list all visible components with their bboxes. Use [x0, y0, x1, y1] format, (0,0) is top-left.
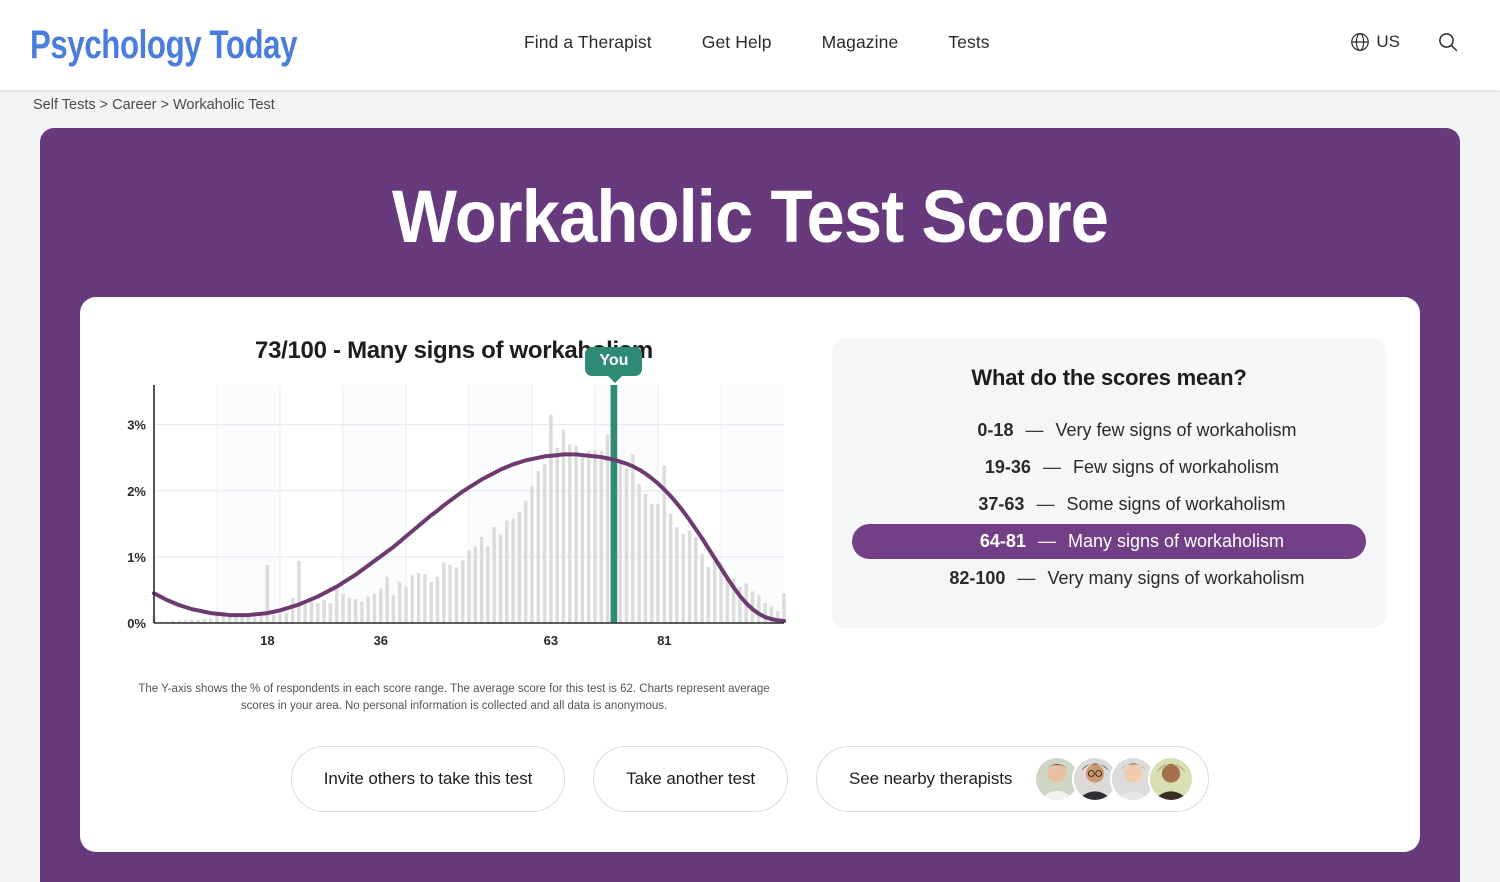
score-range-label: Few signs of workaholism — [1073, 457, 1279, 478]
score-range-value: 19-36 — [939, 457, 1031, 478]
breadcrumb-separator: > — [156, 97, 173, 113]
scores-column: What do the scores mean? 0-18 — Very few… — [832, 331, 1386, 628]
search-button[interactable] — [1436, 30, 1460, 54]
invite-others-label: Invite others to take this test — [324, 769, 533, 789]
chart-note: The Y-axis shows the % of respondents in… — [114, 681, 794, 714]
score-range-label: Many signs of workaholism — [1068, 531, 1284, 552]
score-range-value: 64-81 — [934, 531, 1026, 552]
chart-svg: 0%1%2%3%18366381 — [114, 373, 794, 663]
see-nearby-therapists-label: See nearby therapists — [849, 769, 1012, 789]
score-range-row-0-18: 0-18 — Very few signs of workaholism — [852, 413, 1366, 448]
svg-text:3%: 3% — [127, 418, 146, 433]
main-navigation: Find a Therapist Get Help Magazine Tests — [524, 32, 990, 53]
search-icon — [1436, 30, 1460, 54]
svg-text:0%: 0% — [127, 616, 146, 631]
result-card: 73/100 - Many signs of workaholism You 0… — [80, 297, 1420, 852]
locale-label: US — [1376, 32, 1400, 52]
score-range-row-19-36: 19-36 — Few signs of workaholism — [852, 450, 1366, 485]
score-range-label: Very few signs of workaholism — [1055, 420, 1296, 441]
see-nearby-therapists-button[interactable]: See nearby therapists — [816, 746, 1209, 812]
you-marker-badge: You — [585, 347, 642, 376]
nav-item-tests[interactable]: Tests — [948, 32, 989, 53]
score-range-dash: — — [1036, 494, 1054, 515]
avatar — [1148, 756, 1194, 802]
breadcrumb-separator: > — [96, 97, 113, 113]
nav-item-get-help[interactable]: Get Help — [702, 32, 772, 53]
locale-selector[interactable]: US — [1349, 31, 1400, 53]
take-another-test-button[interactable]: Take another test — [593, 746, 788, 812]
score-heading: 73/100 - Many signs of workaholism — [114, 337, 794, 365]
score-range-value: 0-18 — [921, 420, 1013, 441]
svg-text:18: 18 — [260, 633, 274, 648]
site-header: Psychology Today Find a Therapist Get He… — [0, 0, 1500, 90]
breadcrumb-item-career[interactable]: Career — [112, 97, 156, 113]
svg-text:36: 36 — [374, 633, 388, 648]
svg-text:1%: 1% — [127, 550, 146, 565]
globe-icon — [1349, 31, 1371, 53]
svg-text:63: 63 — [544, 633, 558, 648]
nav-item-find-a-therapist[interactable]: Find a Therapist — [524, 32, 652, 53]
breadcrumb-item-workaholic-test: Workaholic Test — [173, 97, 275, 113]
header-right-controls: US — [1349, 30, 1460, 54]
svg-text:2%: 2% — [127, 484, 146, 499]
therapist-avatars — [1034, 756, 1194, 802]
score-range-dash: — — [1043, 457, 1061, 478]
score-range-value: 37-63 — [932, 494, 1024, 515]
page-title: Workaholic Test Score — [90, 164, 1411, 259]
score-range-label: Very many signs of workaholism — [1047, 568, 1304, 589]
nav-item-magazine[interactable]: Magazine — [822, 32, 899, 53]
invite-others-button[interactable]: Invite others to take this test — [291, 746, 566, 812]
svg-text:81: 81 — [657, 633, 671, 648]
score-range-label: Some signs of workaholism — [1066, 494, 1285, 515]
score-range-row-64-81-active: 64-81 — Many signs of workaholism — [852, 524, 1366, 559]
score-range-dash: — — [1038, 531, 1056, 552]
score-range-dash: — — [1017, 568, 1035, 589]
score-range-dash: — — [1025, 420, 1043, 441]
breadcrumb-item-self-tests[interactable]: Self Tests — [33, 97, 96, 113]
chart-column: 73/100 - Many signs of workaholism You 0… — [114, 331, 794, 714]
take-another-test-label: Take another test — [626, 769, 755, 789]
breadcrumb: Self Tests > Career > Workaholic Test — [0, 90, 1500, 120]
score-range-value: 82-100 — [913, 568, 1005, 589]
psychology-today-logo[interactable]: Psychology Today — [30, 25, 297, 65]
scores-panel: What do the scores mean? 0-18 — Very few… — [832, 339, 1386, 628]
score-range-row-82-100: 82-100 — Very many signs of workaholism — [852, 561, 1366, 596]
action-buttons: Invite others to take this test Take ano… — [114, 746, 1386, 812]
score-range-row-37-63: 37-63 — Some signs of workaholism — [852, 487, 1366, 522]
scores-panel-title: What do the scores mean? — [852, 365, 1366, 391]
score-distribution-chart: You 0%1%2%3%18366381 — [114, 373, 794, 663]
result-banner: Workaholic Test Score 73/100 - Many sign… — [40, 128, 1460, 882]
